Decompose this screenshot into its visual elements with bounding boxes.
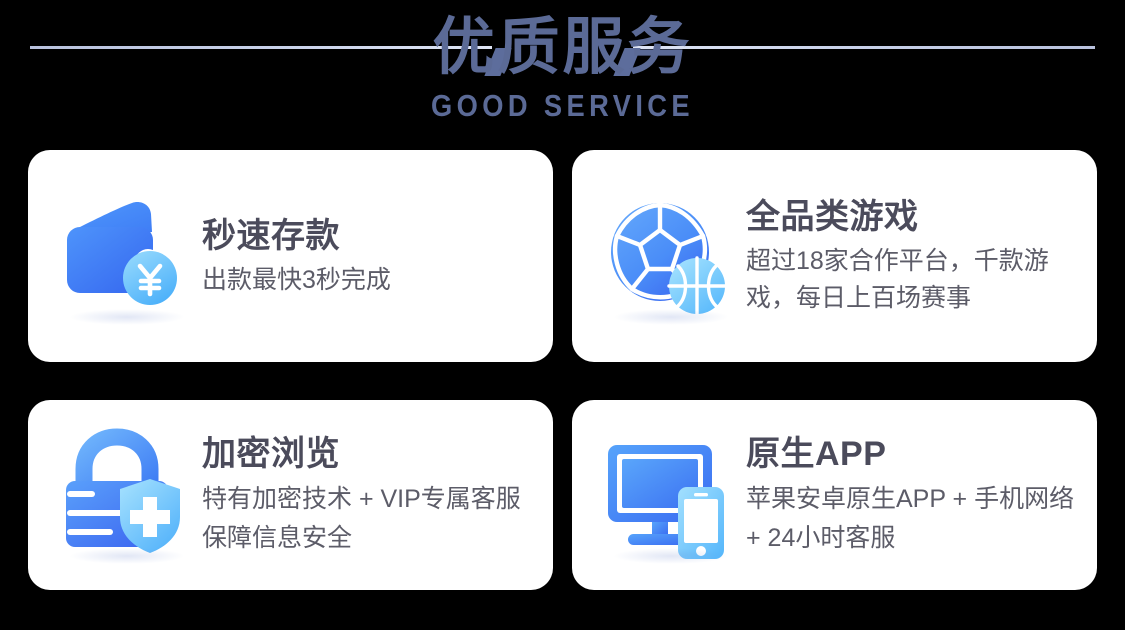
- feature-card-grid: 秒速存款 出款最快3秒完成: [28, 150, 1097, 590]
- lock-shield-icon: [58, 429, 190, 561]
- feature-card-desc: 超过18家合作平台，千款游戏，每日上百场赛事: [746, 243, 1075, 317]
- feature-card-games[interactable]: 全品类游戏 超过18家合作平台，千款游戏，每日上百场赛事: [572, 150, 1097, 362]
- feature-card-title: 加密浏览: [202, 432, 531, 476]
- feature-card-desc: 苹果安卓原生APP + 手机网络 + 24小时客服: [746, 480, 1075, 558]
- feature-card-deposit[interactable]: 秒速存款 出款最快3秒完成: [28, 150, 553, 362]
- feature-card-title: 秒速存款: [202, 214, 531, 258]
- feature-card-native-app[interactable]: 原生APP 苹果安卓原生APP + 手机网络 + 24小时客服: [572, 400, 1097, 590]
- icon-shadow: [69, 548, 185, 564]
- feature-card-encryption[interactable]: 加密浏览 特有加密技术 + VIP专属客服保障信息安全: [28, 400, 553, 590]
- feature-card-desc: 出款最快3秒完成: [202, 262, 531, 299]
- page-subtitle: GOOD SERVICE: [68, 84, 1058, 124]
- soccer-basketball-icon: [602, 190, 734, 322]
- page-title: 优质服务: [0, 0, 1125, 84]
- icon-shadow: [69, 309, 185, 325]
- feature-card-desc: 特有加密技术 + VIP专属客服保障信息安全: [202, 480, 531, 558]
- icon-shadow: [613, 309, 729, 325]
- feature-card-title: 全品类游戏: [746, 195, 1075, 239]
- feature-card-text: 全品类游戏 超过18家合作平台，千款游戏，每日上百场赛事: [734, 195, 1075, 317]
- feature-card-text: 原生APP 苹果安卓原生APP + 手机网络 + 24小时客服: [734, 432, 1075, 558]
- icon-shadow: [613, 548, 729, 564]
- wallet-yen-icon: [58, 190, 190, 322]
- feature-card-title: 原生APP: [746, 432, 1075, 476]
- feature-card-text: 秒速存款 出款最快3秒完成: [190, 214, 531, 299]
- monitor-phone-icon: [602, 429, 734, 561]
- banner-header: 优质服务 GOOD SERVICE: [0, 0, 1125, 140]
- header-title-block: 优质服务 GOOD SERVICE: [0, 0, 1125, 124]
- promo-banner: 优质服务 GOOD SERVICE: [0, 0, 1125, 630]
- feature-card-text: 加密浏览 特有加密技术 + VIP专属客服保障信息安全: [190, 432, 531, 558]
